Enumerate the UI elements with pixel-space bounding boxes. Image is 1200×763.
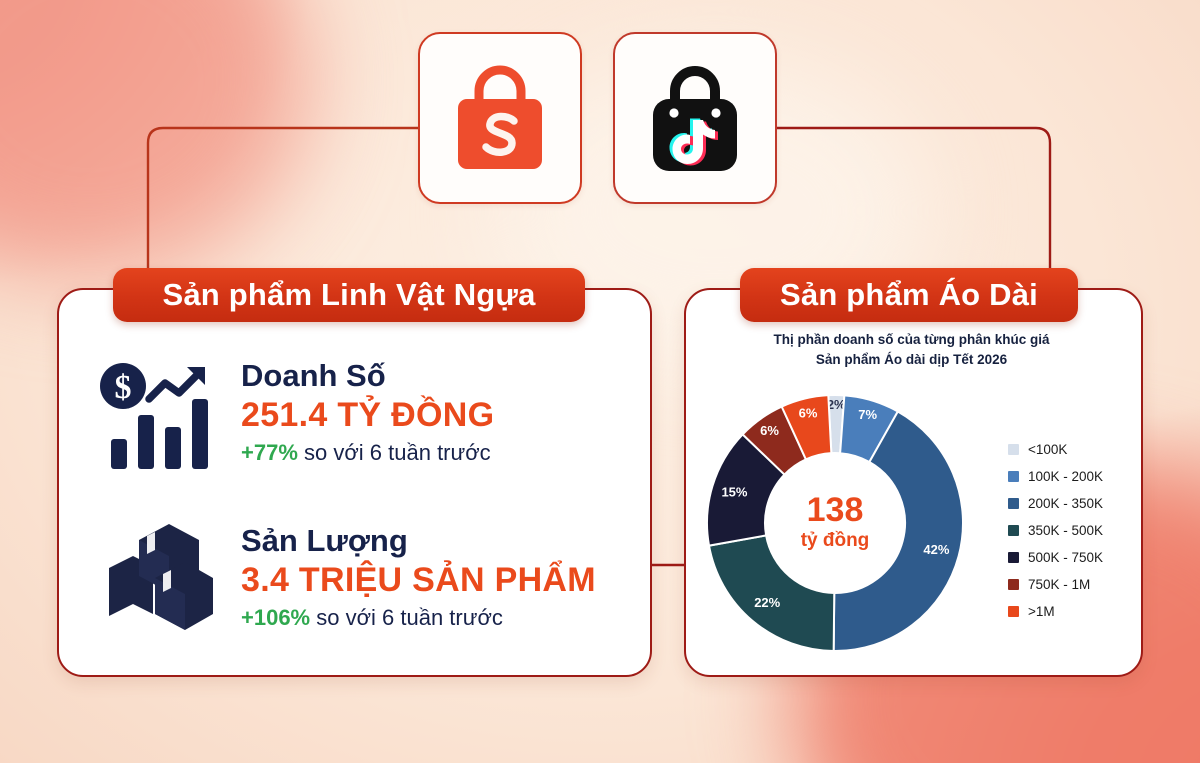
legend-swatch: [1008, 444, 1019, 455]
metric-delta-note: so với 6 tuần trước: [316, 605, 503, 630]
legend-item[interactable]: 100K - 200K: [1008, 463, 1103, 490]
linh-vat-ngua-badge: Sản phẩm Linh Vật Ngựa: [113, 268, 585, 322]
legend-label: 750K - 1M: [1028, 577, 1090, 592]
metric-delta: +77% so với 6 tuần trước: [241, 440, 494, 466]
metric-delta-note: so với 6 tuần trước: [304, 440, 491, 465]
donut-slice-350k-500k[interactable]: [709, 535, 834, 651]
legend-label: 100K - 200K: [1028, 469, 1103, 484]
infographic-canvas: Sản phẩm Linh Vật Ngựa $ Doanh Số 251.4 …: [0, 0, 1200, 763]
donut-slice-label: 15%: [721, 485, 747, 500]
donut-slice-label: 22%: [754, 595, 780, 610]
legend-item[interactable]: 350K - 500K: [1008, 517, 1103, 544]
legend-swatch: [1008, 498, 1019, 509]
legend-swatch: [1008, 525, 1019, 536]
legend-label: >1M: [1028, 604, 1055, 619]
metric-value: 3.4 TRIỆU SẢN PHẨM: [241, 562, 596, 599]
price-segment-donut-chart: 2%7%42%22%15%6%6%: [700, 388, 970, 658]
svg-text:$: $: [115, 369, 132, 406]
metric-label: Doanh Số: [241, 359, 494, 393]
chart-legend: <100K100K - 200K200K - 350K350K - 500K50…: [1008, 436, 1103, 625]
tiktok-shop-logo: [641, 59, 749, 177]
donut-slice-label: 6%: [760, 423, 779, 438]
legend-label: <100K: [1028, 442, 1067, 457]
boxes-volume-icon: [95, 520, 215, 640]
metric-delta-pct: +106%: [241, 605, 310, 630]
legend-label: 350K - 500K: [1028, 523, 1103, 538]
metric-san-luong: Sản Lượng 3.4 TRIỆU SẢN PHẨM +106% so vớ…: [95, 520, 596, 640]
chart-title-line1: Thị phần doanh số của từng phân khúc giá: [684, 330, 1139, 350]
revenue-growth-icon: $: [95, 355, 215, 475]
donut-slice-label: 6%: [799, 405, 818, 420]
metric-label: Sản Lượng: [241, 524, 596, 558]
legend-item[interactable]: >1M: [1008, 598, 1103, 625]
shopee-logo-tile[interactable]: [418, 32, 582, 204]
chart-title: Thị phần doanh số của từng phân khúc giá…: [684, 330, 1139, 369]
legend-item[interactable]: 750K - 1M: [1008, 571, 1103, 598]
legend-item[interactable]: 200K - 350K: [1008, 490, 1103, 517]
metric-value: 251.4 TỶ ĐỒNG: [241, 397, 494, 434]
legend-item[interactable]: <100K: [1008, 436, 1103, 463]
legend-label: 200K - 350K: [1028, 496, 1103, 511]
chart-title-line2: Sản phẩm Áo dài dịp Tết 2026: [684, 350, 1139, 370]
legend-item[interactable]: 500K - 750K: [1008, 544, 1103, 571]
metric-delta: +106% so với 6 tuần trước: [241, 605, 596, 631]
legend-swatch: [1008, 606, 1019, 617]
legend-swatch: [1008, 471, 1019, 482]
legend-swatch: [1008, 552, 1019, 563]
tiktok-shop-logo-tile[interactable]: [613, 32, 777, 204]
donut-slice-label: 7%: [858, 407, 877, 422]
ao-dai-badge: Sản phẩm Áo Dài: [740, 268, 1078, 322]
donut-slice-label: 42%: [923, 542, 949, 557]
metric-delta-pct: +77%: [241, 440, 298, 465]
metric-doanh-so: $ Doanh Số 251.4 TỶ ĐỒNG +77% so với 6 t…: [95, 355, 494, 475]
legend-swatch: [1008, 579, 1019, 590]
shopee-logo: [446, 59, 554, 177]
legend-label: 500K - 750K: [1028, 550, 1103, 565]
